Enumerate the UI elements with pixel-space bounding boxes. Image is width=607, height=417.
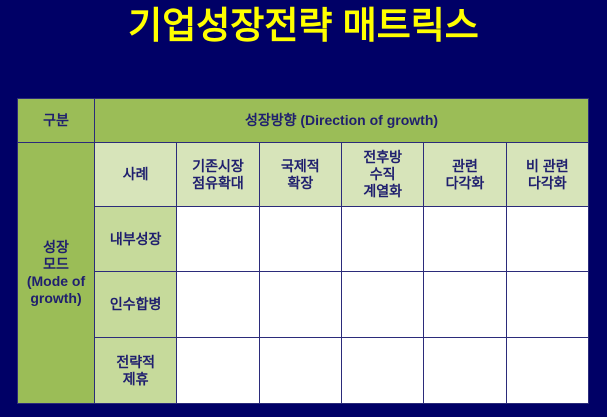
mode-header-line-2: 모드 [20,256,92,273]
mode-of-growth-header: 성장 모드 (Mode of growth) [18,143,95,404]
mode-header-line-3: (Mode of [20,273,92,290]
row-label-strategic-alliance-line-2: 제휴 [97,371,174,388]
column-header-case-line-1: 사례 [97,166,174,183]
row-label-mergers-acquisitions: 인수합병 [95,272,177,338]
row-label-strategic-alliance-line-1: 전략적 [97,354,174,371]
cell-ma-market-share[interactable] [177,272,259,338]
column-header-unrelated-diversification-line-2: 다각화 [509,175,586,192]
cell-ma-vertical[interactable] [341,272,423,338]
cell-internal-growth-international[interactable] [259,207,341,272]
matrix-table: 구분 성장방향 (Direction of growth) 성장 모드 (Mod… [17,98,589,404]
column-header-related-diversification-line-1: 관련 [426,158,503,175]
table-row-top-header: 구분 성장방향 (Direction of growth) [18,99,589,143]
column-header-international-expansion-line-2: 확장 [262,175,339,192]
row-label-internal-growth-line-1: 내부성장 [97,231,174,248]
corner-label-cell: 구분 [18,99,95,143]
cell-internal-growth-vertical[interactable] [341,207,423,272]
row-label-mergers-acquisitions-line-1: 인수합병 [97,296,174,313]
column-header-unrelated-diversification-line-1: 비 관련 [509,158,586,175]
cell-alliance-related[interactable] [424,338,506,404]
cell-alliance-unrelated[interactable] [506,338,588,404]
cell-internal-growth-related[interactable] [424,207,506,272]
table-row-internal-growth: 내부성장 [18,207,589,272]
cell-ma-international[interactable] [259,272,341,338]
table-row-mergers-acquisitions: 인수합병 [18,272,589,338]
row-label-internal-growth: 내부성장 [95,207,177,272]
column-header-related-diversification: 관련 다각화 [424,143,506,207]
page-title: 기업성장전략 매트릭스 [0,2,607,50]
direction-of-growth-header: 성장방향 (Direction of growth) [95,99,589,143]
cell-alliance-international[interactable] [259,338,341,404]
column-header-market-share-expansion-line-2: 점유확대 [179,175,256,192]
cell-internal-growth-unrelated[interactable] [506,207,588,272]
table-row-strategic-alliance: 전략적 제휴 [18,338,589,404]
column-header-case: 사례 [95,143,177,207]
cell-alliance-vertical[interactable] [341,338,423,404]
row-label-strategic-alliance: 전략적 제휴 [95,338,177,404]
column-header-international-expansion-line-1: 국제적 [262,158,339,175]
column-header-unrelated-diversification: 비 관련 다각화 [506,143,588,207]
column-header-vertical-integration-line-1: 전후방 [344,149,421,166]
mode-header-line-4: growth) [20,290,92,307]
column-header-vertical-integration-line-3: 계열화 [344,183,421,200]
cell-alliance-market-share[interactable] [177,338,259,404]
column-header-international-expansion: 국제적 확장 [259,143,341,207]
cell-ma-related[interactable] [424,272,506,338]
column-header-vertical-integration: 전후방 수직 계열화 [341,143,423,207]
cell-ma-unrelated[interactable] [506,272,588,338]
cell-internal-growth-market-share[interactable] [177,207,259,272]
column-header-market-share-expansion: 기존시장 점유확대 [177,143,259,207]
growth-strategy-matrix: 구분 성장방향 (Direction of growth) 성장 모드 (Mod… [17,98,589,388]
slide-canvas: 기업성장전략 매트릭스 구분 성장방향 (Direction of growth… [0,0,607,417]
column-header-market-share-expansion-line-1: 기존시장 [179,158,256,175]
table-row-column-headers: 성장 모드 (Mode of growth) 사례 기존시장 점유확대 국제적 [18,143,589,207]
mode-header-line-1: 성장 [20,239,92,256]
column-header-related-diversification-line-2: 다각화 [426,175,503,192]
column-header-vertical-integration-line-2: 수직 [344,166,421,183]
